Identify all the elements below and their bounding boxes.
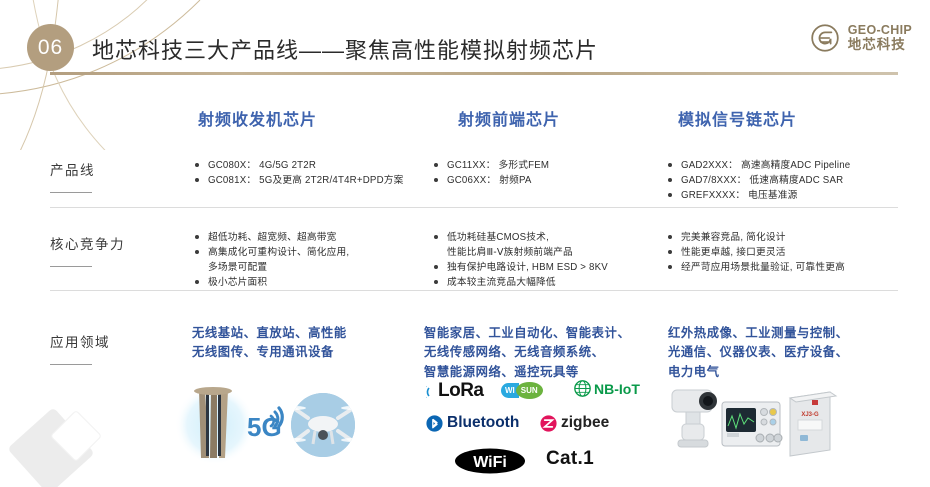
row-label-text: 核心竞争力 — [50, 237, 125, 252]
wi-sun-pill: WI SUN — [501, 382, 543, 399]
list-item: 性能更卓越, 接口更灵活 — [668, 245, 845, 260]
relay-model-label: XJ3-G — [801, 412, 819, 418]
list-item: GREFXXXX： 电压基准源 — [668, 188, 850, 203]
imagery-col3: XJ3-G — [660, 378, 840, 470]
brand-logo-text: GEO-CHIP 地芯科技 — [848, 23, 912, 52]
slide-number-badge: 06 — [27, 24, 74, 71]
zigbee-icon — [540, 415, 557, 432]
list-item: GC080X： 4G/5G 2T2R — [195, 158, 404, 173]
list-item-continuation: 多场景可配置 — [195, 260, 349, 275]
list-item: 低功耗硅基CMOS技术, — [434, 230, 608, 245]
decorative-diamonds — [0, 392, 150, 487]
wifi-label: WiFi — [473, 454, 507, 471]
column-header-3: 模拟信号链芯片 — [678, 106, 797, 130]
zigbee-logo: zigbee — [540, 414, 609, 432]
list-item: 超低功耗、超宽频、超高带宽 — [195, 230, 349, 245]
oscilloscope-image — [722, 402, 782, 446]
nb-iot-globe-icon — [574, 380, 591, 397]
cat1-label: Cat.1 — [546, 448, 594, 470]
drone-image — [282, 393, 365, 457]
list-item: GAD2XXX： 高速高精度ADC Pipeline — [668, 158, 850, 173]
application-text-col1: 无线基站、直放站、高性能 无线图传、专用通讯设备 — [192, 324, 347, 363]
list-item: 独有保护电路设计, HBM ESD > 8KV — [434, 260, 608, 275]
lora-label: LoRa — [438, 380, 484, 402]
list-item: GC11XX： 多形式FEM — [434, 158, 549, 173]
row-label-underline — [50, 266, 92, 267]
row-label-applications: 应用领域 — [50, 331, 110, 365]
list-item: GC06XX： 射频PA — [434, 173, 549, 188]
list-item: 完美兼容竞品, 简化设计 — [668, 230, 845, 245]
bullet-list-advantages-col1: 超低功耗、超宽频、超高带宽 高集成化可重构设计、简化应用, 多场景可配置 极小芯… — [195, 230, 349, 290]
row-divider-2 — [50, 290, 898, 291]
cat1-logo: Cat.1 — [546, 448, 594, 470]
slide-root: 06 地芯科技三大产品线——聚焦高性能模拟射频芯片 GEO-CHIP 地芯科技 … — [0, 0, 930, 487]
bullet-list-products-col1: GC080X： 4G/5G 2T2R GC081X： 5G及更高 2T2R/4T… — [195, 158, 404, 188]
brand-logo: GEO-CHIP 地芯科技 — [809, 22, 912, 54]
column-header-1: 射频收发机芯片 — [198, 106, 317, 130]
sun-label: SUN — [516, 382, 543, 399]
row-label-core-competence: 核心竞争力 — [50, 233, 125, 267]
column-header-2: 射频前端芯片 — [458, 106, 560, 130]
row-label-underline — [50, 192, 92, 193]
row-label-product-line: 产品线 — [50, 159, 95, 193]
bullet-list-products-col2: GC11XX： 多形式FEM GC06XX： 射频PA — [434, 158, 549, 188]
thermal-camera-image — [672, 390, 717, 447]
list-item-continuation: 性能比肩Ⅲ-Ⅴ族射频前端产品 — [434, 245, 608, 260]
bullet-list-advantages-col2: 低功耗硅基CMOS技术, 性能比肩Ⅲ-Ⅴ族射频前端产品 独有保护电路设计, HB… — [434, 230, 608, 290]
bullet-list-advantages-col3: 完美兼容竞品, 简化设计 性能更卓越, 接口更灵活 经严苛应用场景批量验证, 可… — [668, 230, 845, 275]
wifi-icon: WiFi — [454, 448, 526, 474]
bluetooth-icon — [426, 415, 443, 432]
wi-sun-logo: WI SUN — [501, 382, 543, 399]
page-title: 地芯科技三大产品线——聚焦高性能模拟射频芯片 — [92, 33, 598, 65]
row-label-text: 产品线 — [50, 163, 95, 178]
application-text-col2: 智能家居、工业自动化、智能表计、 无线传感网络、无线音频系统、 智慧能源网络、遥… — [424, 324, 630, 382]
bluetooth-logo: Bluetooth — [426, 414, 519, 432]
list-item: 成本较主流竞品大幅降低 — [434, 275, 608, 290]
list-item: 经严苛应用场景批量验证, 可靠性更高 — [668, 260, 845, 275]
bluetooth-label: Bluetooth — [447, 414, 519, 432]
list-item: GAD7/8XXX： 低速高精度ADC SAR — [668, 173, 850, 188]
relay-instrument-image: XJ3-G — [790, 392, 836, 456]
base-station-antenna-image — [175, 385, 255, 465]
row-divider-1 — [50, 207, 898, 208]
brand-name-en: GEO-CHIP — [848, 23, 912, 37]
row-label-text: 应用领域 — [50, 335, 110, 350]
geo-chip-logo-icon — [809, 22, 841, 54]
wifi-logo: WiFi — [454, 448, 526, 474]
5g-logo: 5G — [247, 408, 282, 442]
application-text-col3: 红外热成像、工业测量与控制、 光通信、仪器仪表、医疗设备、 电力电气 — [668, 324, 849, 382]
imagery-col2-connectivity-logos: LoRa WI SUN NB-IoT Bluetooth — [424, 378, 629, 483]
title-underline-rule — [50, 72, 898, 75]
bullet-list-products-col3: GAD2XXX： 高速高精度ADC Pipeline GAD7/8XXX： 低速… — [668, 158, 850, 203]
row-label-underline — [50, 364, 92, 365]
brand-name-cn: 地芯科技 — [848, 37, 912, 52]
nb-iot-label: NB-IoT — [594, 381, 640, 397]
slide-number: 06 — [38, 36, 63, 60]
nb-iot-logo: NB-IoT — [574, 380, 640, 397]
lora-logo: LoRa — [426, 380, 484, 402]
list-item: GC081X： 5G及更高 2T2R/4T4R+DPD方案 — [195, 173, 404, 188]
imagery-col1: 5G — [175, 378, 365, 478]
list-item: 高集成化可重构设计、简化应用, — [195, 245, 349, 260]
list-item: 极小芯片面积 — [195, 275, 349, 290]
zigbee-label: zigbee — [561, 414, 609, 432]
